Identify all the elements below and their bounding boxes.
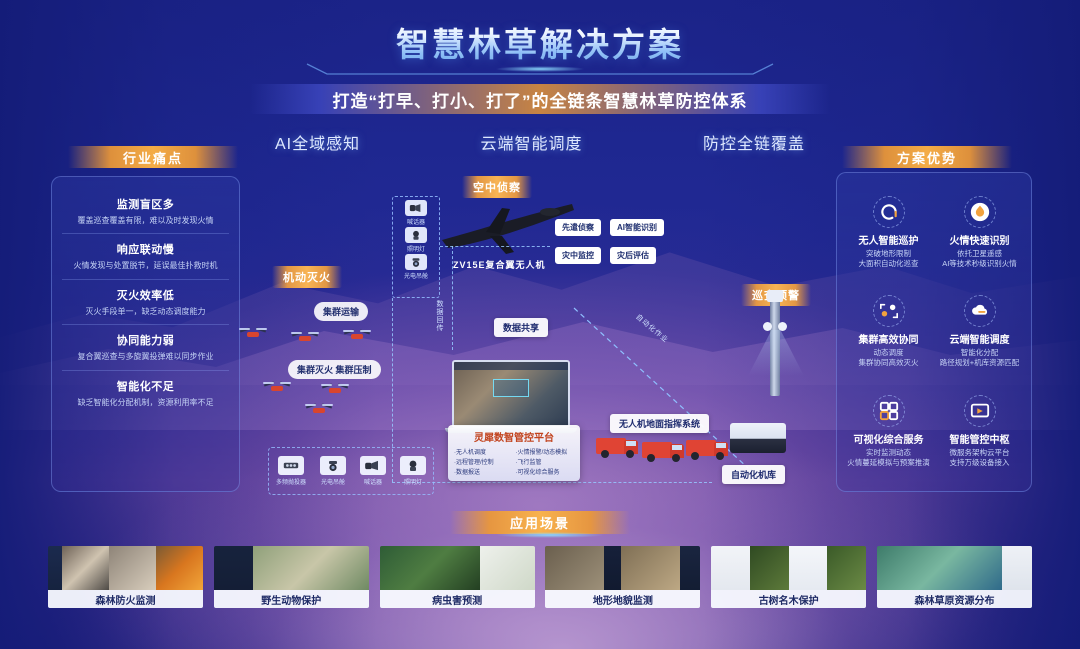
advantage-line2: 火情蔓延模拟与预案推演 — [847, 458, 930, 468]
advantage-item: 无人智能巡护 突破地形限制 大面积自动化巡查 — [843, 183, 934, 282]
patrol-circle-icon — [873, 196, 905, 228]
auto-hangar-tag: 自动化机库 — [722, 465, 785, 484]
advantage-item: 可视化综合服务 实时监测动态 火情蔓延模拟与预案推演 — [843, 382, 934, 481]
multi-dropper-icon — [278, 456, 304, 475]
advantage-line2: 支持万级设备接入 — [950, 458, 1010, 468]
laptop-screen — [452, 360, 570, 428]
searchlight-icon — [405, 227, 427, 243]
command-laptop — [452, 360, 570, 433]
operator-figure — [780, 384, 790, 412]
payload-strip: 多频抛投器 光电吊舱 喊话器 照明灯 — [268, 447, 434, 495]
pain-points-heading-label: 行业痛点 — [123, 148, 183, 167]
drone-icon — [292, 332, 318, 344]
advantage-title: 无人智能巡护 — [859, 232, 919, 247]
recon-tag-1: 先遣侦察 — [555, 219, 601, 236]
recon-tag-2: AI智能识别 — [610, 219, 664, 236]
payload-strip-label: 照明灯 — [400, 477, 426, 486]
advantage-line2: AI等技术秒级识别火情 — [942, 259, 1017, 269]
scenarios-glow — [495, 532, 605, 538]
scenario-label: 古树名木保护 — [711, 590, 866, 608]
platform-feature: ·火情报警/动态模拟 — [516, 447, 575, 456]
screen-topbar — [454, 362, 568, 370]
scenario-label: 野生动物保护 — [214, 590, 369, 608]
scenario-label: 森林草原资源分布 — [877, 590, 1032, 608]
pain-points-card: 监测盲区多 覆盖巡查覆盖有限，难以及时发现火情 响应联动慢 火情发现与处置脱节，… — [51, 176, 240, 492]
eo-pod-icon — [320, 456, 346, 475]
fire-truck-icon — [686, 434, 728, 460]
advantage-title: 火情快速识别 — [950, 232, 1010, 247]
flame-shield-icon — [964, 196, 996, 228]
pain-desc: 缺乏智能化分配机制，资源利用率不足 — [64, 398, 227, 408]
pain-points-heading: 行业痛点 — [68, 146, 238, 168]
drone-icon — [264, 382, 290, 394]
infographic-stage: 智慧林草解决方案 打造“打早、打小、打了”的全链条智慧林草防控体系 AI全域感知… — [0, 0, 1080, 649]
scenario-card[interactable]: 野生动物保护 — [214, 546, 369, 608]
drone-icon — [306, 404, 332, 416]
advantage-line1: 动态调度 — [874, 348, 904, 358]
pillar-3: 防控全链覆盖 — [703, 130, 805, 154]
pain-desc: 灭火手段单一，缺乏动态调度能力 — [64, 307, 227, 317]
pillar-1: AI全域感知 — [275, 130, 360, 154]
tower-camera-icon — [763, 322, 772, 331]
payload-strip-item: 多频抛投器 — [276, 456, 306, 486]
recon-tag-3: 灾中监控 — [555, 247, 601, 264]
eo-pod-icon — [405, 254, 427, 270]
tower-camera-icon — [778, 322, 787, 331]
scenario-card[interactable]: 地形地貌监测 — [545, 546, 700, 608]
pain-item: 灭火效率低 灭火手段单一，缺乏动态调度能力 — [62, 279, 229, 324]
pain-title: 响应联动慢 — [64, 241, 227, 257]
payload-column: 喊话器 照明灯 光电吊舱 — [392, 196, 440, 298]
advantage-item: 火情快速识别 依托卫星遥感 AI等技术秒级识别火情 — [934, 183, 1025, 282]
loudspeaker-icon — [405, 200, 427, 216]
data-uplink-label: 数据回传 — [434, 300, 444, 332]
scenarios-heading-label: 应用场景 — [510, 513, 570, 532]
payload-strip-label: 光电吊舱 — [320, 477, 346, 486]
zone-label-air-recon: 空中侦察 — [462, 176, 532, 198]
scenario-card[interactable]: 古树名木保护 — [711, 546, 866, 608]
recon-tag-4: 灾后评估 — [610, 247, 656, 264]
platform-feature: ·可视化综合服务 — [516, 467, 575, 476]
pillars-row: AI全域感知 云端智能调度 防控全链覆盖 — [275, 130, 805, 154]
page-title: 智慧林草解决方案 — [0, 18, 1080, 66]
payload-label: 喊话器 — [407, 217, 425, 226]
scenarios-heading: 应用场景 — [450, 511, 630, 534]
title-glow — [495, 66, 585, 72]
tower-antenna-icon — [767, 290, 783, 302]
scenario-thumbnail — [877, 546, 1032, 590]
scenario-thumbnail — [711, 546, 866, 590]
drone-icon — [322, 384, 348, 396]
pain-title: 协同能力弱 — [64, 332, 227, 348]
payload-label: 光电吊舱 — [404, 271, 428, 280]
fire-truck-icon — [642, 436, 684, 462]
platform-card: 灵犀数智管控平台 ·无人机调度 ·火情报警/动态模拟 ·远程管理/控制 ·飞行监… — [448, 425, 580, 481]
pain-desc: 复合翼巡查与多旋翼投弹难以同步作业 — [64, 352, 227, 362]
ground-connector — [392, 482, 712, 483]
advantage-title: 集群高效协同 — [859, 331, 919, 346]
advantage-title: 可视化综合服务 — [854, 431, 924, 446]
scenario-label: 病虫害预测 — [380, 590, 535, 608]
operator-figure — [793, 384, 803, 412]
advantage-line2: 集群协同高效灭火 — [859, 358, 919, 368]
pain-item: 响应联动慢 火情发现与处置脱节，延误最佳扑救时机 — [62, 233, 229, 278]
scenario-card-list: 森林防火监测 野生动物保护 病虫害预测 地形地貌监测 — [48, 546, 1032, 608]
control-screen-icon — [964, 395, 996, 427]
scenario-thumbnail — [214, 546, 369, 590]
ground-command-tag: 无人机地面指挥系统 — [610, 414, 709, 433]
uplink-connector — [452, 246, 453, 350]
fire-truck-icon — [596, 432, 638, 458]
drone-icon — [344, 330, 370, 342]
pain-desc: 覆盖巡查覆盖有限，难以及时发现火情 — [64, 216, 227, 226]
scenario-label: 森林防火监测 — [48, 590, 203, 608]
scenario-card[interactable]: 森林防火监测 — [48, 546, 203, 608]
advantage-title: 智能管控中枢 — [950, 431, 1010, 446]
drone-icon — [240, 328, 266, 340]
advantage-line1: 微服务架构云平台 — [950, 448, 1010, 458]
advantage-line1: 实时监测动态 — [866, 448, 911, 458]
advantages-card: 无人智能巡护 突破地形限制 大面积自动化巡查 火情快速识别 依托卫星遥感 AI等… — [836, 172, 1032, 492]
zone-label-mobile-fire: 机动灭火 — [272, 266, 342, 288]
advantage-item: 集群高效协同 动态调度 集群协同高效灭火 — [843, 282, 934, 381]
scenario-thumbnail — [545, 546, 700, 590]
advantage-title: 云端智能调度 — [950, 331, 1010, 346]
platform-feature: ·远程管理/控制 — [454, 457, 513, 466]
automated-hangar-icon — [730, 423, 786, 453]
advantages-heading: 方案优势 — [842, 146, 1012, 168]
platform-feature: ·飞行监管 — [516, 457, 575, 466]
payload-label: 照明灯 — [407, 244, 425, 253]
scenario-thumbnail — [48, 546, 203, 590]
advantage-line1: 依托卫星遥感 — [957, 249, 1002, 259]
payload-strip-label: 多频抛投器 — [276, 477, 306, 486]
advantage-line1: 突破地形限制 — [866, 249, 911, 259]
payload-strip-item: 照明灯 — [400, 456, 426, 486]
pain-item: 监测盲区多 覆盖巡查覆盖有限，难以及时发现火情 — [62, 189, 229, 233]
advantage-item: 云端智能调度 智能化分配 路径规划+机库资源匹配 — [934, 282, 1025, 381]
header: 智慧林草解决方案 — [0, 18, 1080, 66]
pain-desc: 火情发现与处置脱节，延误最佳扑救时机 — [64, 261, 227, 271]
screen-hud-overlay — [493, 379, 529, 397]
advantage-item: 智能管控中枢 微服务架构云平台 支持万级设备接入 — [934, 382, 1025, 481]
scenario-label: 地形地貌监测 — [545, 590, 700, 608]
pain-title: 监测盲区多 — [64, 196, 227, 212]
cluster-transport-tag: 集群运输 — [314, 302, 368, 321]
payload-strip-item: 光电吊舱 — [320, 456, 346, 486]
aircraft-label: ZV15E复合翼无人机 — [453, 258, 546, 271]
loudspeaker-icon — [360, 456, 386, 475]
subtitle-text: 打造“打早、打小、打了”的全链条智慧林草防控体系 — [333, 87, 748, 112]
scenario-card[interactable]: 病虫害预测 — [380, 546, 535, 608]
scenario-card[interactable]: 森林草原资源分布 — [877, 546, 1032, 608]
scenario-thumbnail — [380, 546, 535, 590]
advantages-heading-label: 方案优势 — [897, 148, 957, 167]
advantage-line2: 路径规划+机库资源匹配 — [940, 358, 1019, 368]
pain-item: 智能化不足 缺乏智能化分配机制，资源利用率不足 — [62, 370, 229, 415]
payload-strip-item: 喊话器 — [360, 456, 386, 486]
platform-title: 灵犀数智管控平台 — [454, 429, 574, 444]
platform-feature: ·无人机调度 — [454, 447, 513, 456]
searchlight-icon — [400, 456, 426, 475]
monitor-tower-icon — [770, 300, 780, 396]
cluster-fire-tag: 集群灭火 集群压制 — [288, 360, 381, 379]
advantage-line1: 智能化分配 — [961, 348, 999, 358]
payload-strip-label: 喊话器 — [360, 477, 386, 486]
pain-title: 智能化不足 — [64, 378, 227, 394]
swarm-nodes-icon — [873, 295, 905, 327]
advantage-line2: 大面积自动化巡查 — [859, 259, 919, 269]
data-share-tag: 数据共享 — [494, 318, 548, 337]
pain-item: 协同能力弱 复合翼巡查与多旋翼投弹难以同步作业 — [62, 324, 229, 369]
recon-connector — [440, 246, 550, 247]
pain-title: 灭火效率低 — [64, 287, 227, 303]
dashboard-grid-icon — [873, 395, 905, 427]
pillar-2: 云端智能调度 — [481, 130, 583, 154]
platform-feature: ·数据报送 — [454, 467, 513, 476]
subtitle-banner: 打造“打早、打小、打了”的全链条智慧林草防控体系 — [250, 84, 830, 114]
cloud-dispatch-icon — [964, 295, 996, 327]
